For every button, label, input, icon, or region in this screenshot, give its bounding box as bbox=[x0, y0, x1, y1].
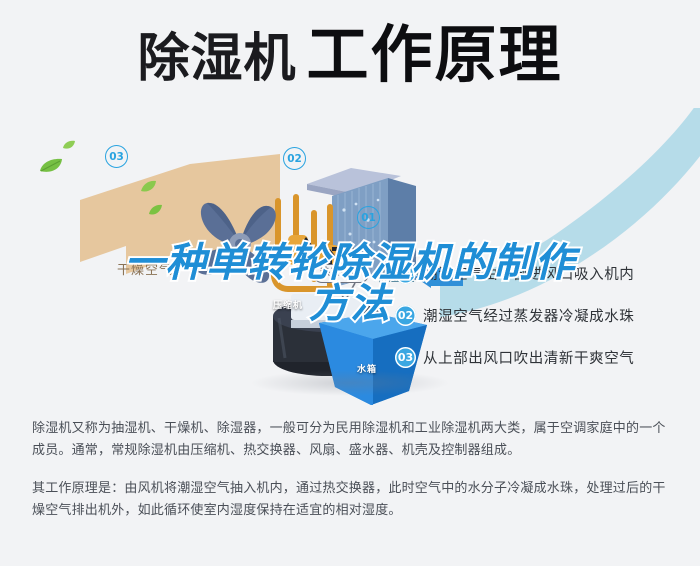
legend-text-03: 从上部出风口吹出清新干爽空气 bbox=[423, 347, 634, 368]
leaf-icon bbox=[62, 140, 76, 150]
page-title-part2: 工作原理 bbox=[307, 18, 563, 91]
heat-exchanger-callout-text: 热交换器 bbox=[313, 264, 369, 283]
legend-text-01: 潮湿空气由下部进风口吸入机内 bbox=[423, 263, 634, 284]
leaf-icon bbox=[140, 180, 157, 193]
legend-item-01: 01 潮湿空气由下部进风口吸入机内 bbox=[395, 262, 695, 284]
legend-text-02: 潮湿空气经过蒸发器冷凝成水珠 bbox=[423, 305, 634, 326]
leaf-icon bbox=[148, 204, 163, 216]
article-body: 除湿机又称为抽湿机、干燥机、除湿器，一般可分为民用除湿机和工业除湿机两大类，属于… bbox=[32, 418, 672, 532]
dry-air-label: 干燥空气 bbox=[117, 259, 173, 278]
body-paragraph-2: 其工作原理是：由风机将潮湿空气抽入机内，通过热交换器，此时空气中的水分子冷凝成水… bbox=[32, 478, 672, 522]
compressor-label: 压缩机 bbox=[273, 298, 303, 311]
body-paragraph-1: 除湿机又称为抽湿机、干燥机、除湿器，一般可分为民用除湿机和工业除湿机两大类，属于… bbox=[32, 418, 672, 462]
legend-badge-03: 03 bbox=[395, 347, 416, 368]
diagram-badge-01: 01 bbox=[357, 206, 380, 229]
legend-badge-01: 01 bbox=[395, 263, 416, 284]
legend-item-03: 03 从上部出风口吹出清新干爽空气 bbox=[395, 346, 695, 368]
diagram-badge-02: 02 bbox=[283, 147, 306, 170]
page-title-part1: 除湿机 bbox=[137, 29, 296, 89]
fan-blades bbox=[185, 193, 295, 298]
heat-exchanger-callout: 热交换器 bbox=[313, 264, 369, 283]
diagram-badge-03: 03 bbox=[105, 145, 128, 168]
legend-item-02: 02 潮湿空气经过蒸发器冷凝成水珠 bbox=[395, 304, 695, 326]
leaf-icon bbox=[38, 158, 64, 174]
infographic-page: 除湿机工作原理 bbox=[0, 0, 700, 566]
legend-list: 01 潮湿空气由下部进风口吸入机内 02 潮湿空气经过蒸发器冷凝成水珠 03 从… bbox=[395, 262, 695, 388]
callout-pointer-icon bbox=[333, 281, 359, 303]
legend-badge-02: 02 bbox=[395, 305, 416, 326]
page-title: 除湿机工作原理 bbox=[0, 24, 700, 86]
